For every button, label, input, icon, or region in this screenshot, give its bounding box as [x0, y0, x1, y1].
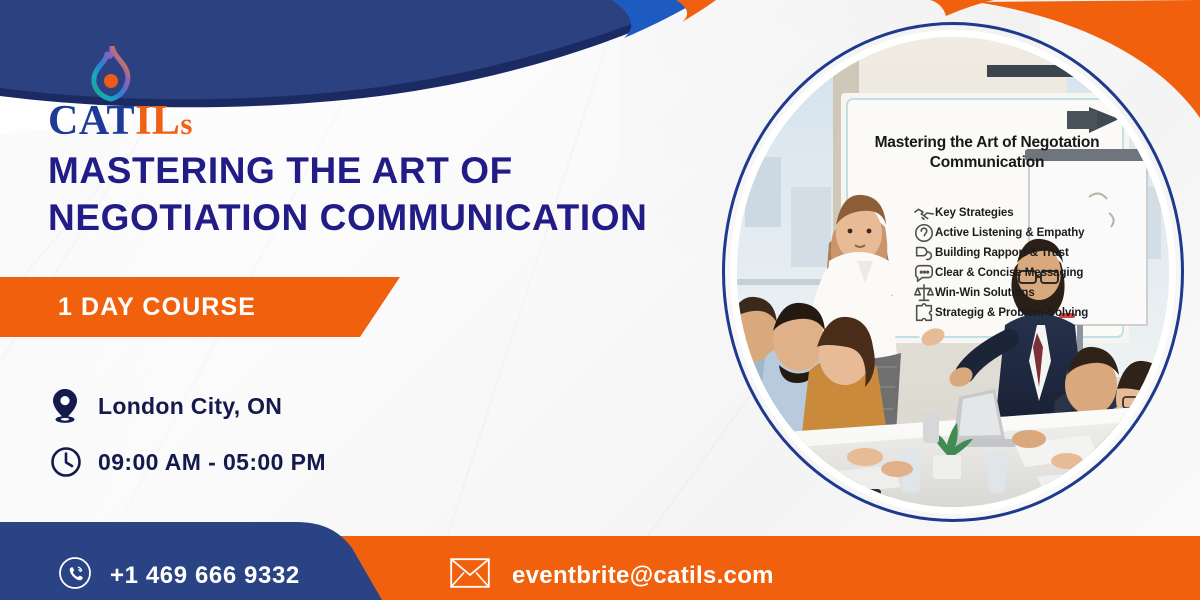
headline-line-2: NEGOTIATION COMMUNICATION — [48, 195, 688, 242]
detail-row-location: London City, ON — [50, 378, 570, 434]
slide-bullet: Building Rapport & Trust — [913, 243, 1123, 263]
event-details: London City, ON 09:00 AM - 05:00 PM — [50, 378, 570, 490]
headline-line-1: MASTERING THE ART OF — [48, 150, 513, 191]
slide-bullet: Win-Win Solutions — [913, 283, 1123, 303]
slide-bullet: Strategig & Problem-Solving — [913, 303, 1123, 323]
slide-bullet-label: Key Strategies — [935, 207, 1014, 219]
course-duration-ribbon: 1 DAY COURSE — [0, 277, 400, 337]
slide-bullet: Key Strategies — [913, 203, 1123, 223]
slide-bullet-label: Strategig & Problem-Solving — [935, 307, 1088, 319]
time-text: 09:00 AM - 05:00 PM — [98, 449, 326, 476]
wordmark-s: s — [180, 106, 193, 141]
slide-bullet: Active Listening & Empathy — [913, 223, 1123, 243]
location-pin-icon — [50, 388, 98, 424]
location-text: London City, ON — [98, 393, 282, 420]
slide-title: Mastering the Art of Negotation Communic… — [853, 133, 1121, 173]
puzzle-icon — [913, 302, 935, 324]
email-contact[interactable]: eventbrite@catils.com — [450, 558, 774, 593]
clock-icon — [50, 446, 98, 478]
slide-bullet-label: Win-Win Solutions — [935, 287, 1035, 299]
brand-logo[interactable]: CATILs — [48, 46, 268, 138]
slide-bullet-label: Active Listening & Empathy — [935, 227, 1084, 239]
phone-text: +1 469 666 9332 — [110, 562, 300, 590]
balance-scale-icon — [913, 282, 935, 304]
contact-footer: +1 469 666 9332 eventbrite@catils.com — [0, 522, 1200, 600]
event-banner: CATILs MASTERING THE ART OF NEGOTIATION … — [0, 0, 1200, 600]
phone-contact[interactable]: +1 469 666 9332 — [58, 556, 300, 595]
strong-arm-icon — [913, 242, 935, 264]
page-title: MASTERING THE ART OF NEGOTIATION COMMUNI… — [48, 148, 688, 241]
slide-bullet-list: Key Strategies Active Listening & Empath… — [913, 203, 1123, 323]
slide-bullet-label: Clear & Concise Messaging — [935, 267, 1083, 279]
wordmark-il: IL — [135, 98, 180, 144]
flame-icon — [88, 46, 132, 104]
slide-bullet-label: Building Rapport & Trust — [935, 247, 1069, 259]
detail-row-time: 09:00 AM - 05:00 PM — [50, 434, 570, 490]
slide-bullet: Clear & Concise Messaging — [913, 263, 1123, 283]
ribbon-label: 1 DAY COURSE — [58, 277, 256, 337]
photo-circle: Mastering the Art of Negotation Communic… — [722, 22, 1184, 522]
phone-icon — [58, 556, 92, 595]
brand-wordmark: CATILs — [48, 100, 268, 142]
ear-listening-icon — [913, 222, 935, 244]
wordmark-cat: CAT — [48, 98, 135, 144]
negotiation-training-photo: Mastering the Art of Negotation Communic… — [737, 37, 1169, 507]
envelope-icon — [450, 558, 490, 593]
speech-bubble-icon — [913, 262, 935, 284]
email-text: eventbrite@catils.com — [512, 562, 774, 590]
handshake-icon — [913, 202, 935, 224]
